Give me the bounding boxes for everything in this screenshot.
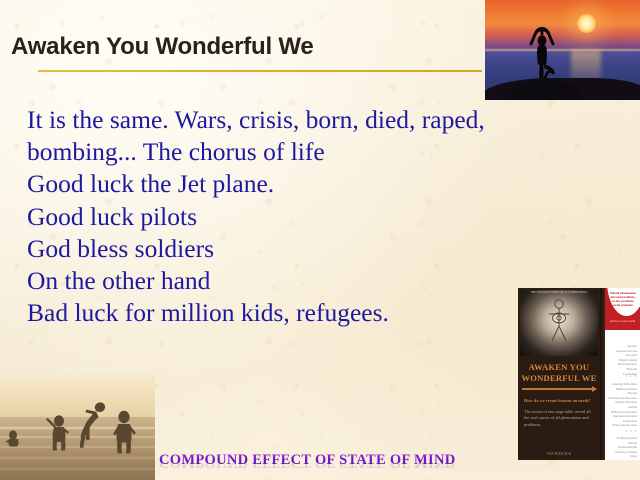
book-back-heading: Mental phenomena, physical problems, soc… (608, 291, 638, 307)
yoga-sunset-photo (485, 0, 640, 100)
body-line: It is the same. Wars, crisis, born, died… (27, 104, 587, 136)
book-back-dots: • • • (626, 373, 637, 378)
footer-wordart: COMPOUND EFFECT OF STATE OF MIND COMPOUN… (159, 453, 456, 480)
book-title: AWAKEN YOU WONDERFUL WE (518, 362, 600, 384)
title-divider-rule (38, 70, 482, 72)
book-cover-photo: THE ONE PAGE TABLE OF ALL PHENOMENA AWAK… (518, 288, 640, 460)
book-back-list-three: Eating disorders Suicide Physical health… (615, 436, 637, 459)
book-back-cover: Mental phenomena, physical problems, soc… (605, 288, 640, 460)
body-line: Bad luck for million kids, refugees. (27, 297, 587, 329)
children-in-water-photo (0, 375, 155, 480)
body-line: Good luck the Jet plane. (27, 168, 587, 200)
body-line: God bless soldiers (27, 233, 587, 265)
body-line: Good luck pilots (27, 201, 587, 233)
footer-wordart-reflection: COMPOUND EFFECT OF STATE OF MIND (159, 456, 456, 468)
book-author: VAN BIEN MAI (518, 452, 600, 456)
book-front-cover: THE ONE PAGE TABLE OF ALL PHENOMENA AWAK… (518, 288, 600, 460)
slide-title: Awaken You Wonderful We (11, 33, 314, 61)
book-back-list-one: Autistic Anxious nervous disorders Digit… (605, 344, 637, 376)
book-cover-caption: THE ONE PAGE TABLE OF ALL PHENOMENA (524, 291, 594, 294)
book-back-subline: and how to solve them (607, 320, 638, 323)
book-arrow-graphic (522, 388, 596, 390)
book-subtitle-body: The secret of one page table reveal all … (524, 409, 594, 428)
children-silhouettes (0, 375, 155, 480)
body-line: bombing... The chorus of life (27, 136, 587, 168)
human-diagram-icon (546, 298, 572, 344)
presentation-slide: Awaken You Wonderful We It is the same. … (0, 0, 640, 480)
body-line: On the other hand (27, 265, 587, 297)
book-back-dots: • • • (626, 428, 637, 433)
book-back-list-two: Learning difficulties Mental problems Ob… (608, 382, 637, 428)
sun-icon (577, 14, 596, 33)
book-subtitle-question: How do we create heaven on earth? (524, 398, 594, 404)
slide-body-text: It is the same. Wars, crisis, born, died… (27, 104, 587, 329)
